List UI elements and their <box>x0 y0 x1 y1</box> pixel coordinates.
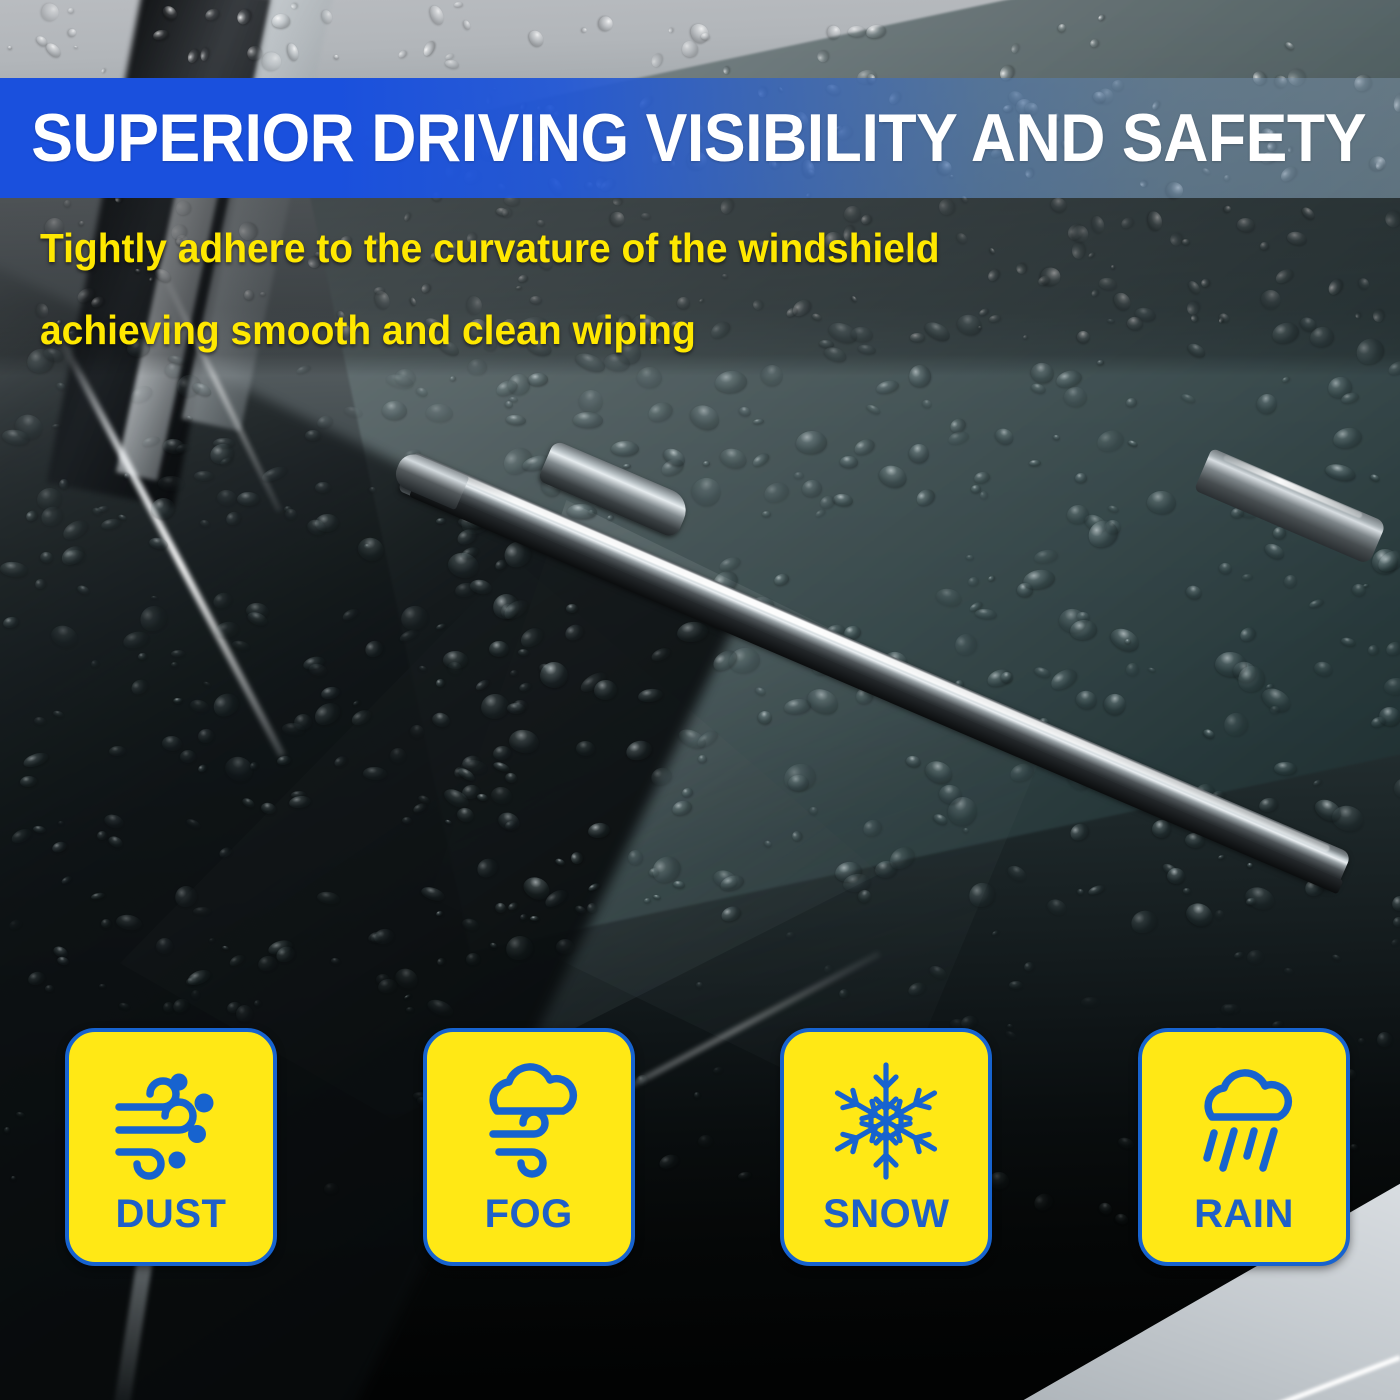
cloud-rain-icon <box>1173 1050 1315 1192</box>
badge-label-fog: FOG <box>485 1194 573 1234</box>
feature-badge-snow[interactable]: SNOW <box>780 1028 992 1266</box>
wind-dust-icon <box>100 1050 242 1192</box>
subtitle-line-1: Tightly adhere to the curvature of the w… <box>40 228 1104 269</box>
product-feature-poster: SUPERIOR DRIVING VISIBILITY AND SAFETY T… <box>0 0 1400 1400</box>
subtitle-line-2: achieving smooth and clean wiping <box>40 310 1104 351</box>
badge-label-snow: SNOW <box>823 1194 949 1234</box>
badge-label-rain: RAIN <box>1194 1194 1294 1234</box>
snowflake-icon <box>815 1050 957 1192</box>
cloud-fog-icon <box>458 1050 600 1192</box>
subtitle-block: Tightly adhere to the curvature of the w… <box>40 228 1160 351</box>
page-title: SUPERIOR DRIVING VISIBILITY AND SAFETY <box>0 104 1366 172</box>
header-banner: SUPERIOR DRIVING VISIBILITY AND SAFETY <box>0 78 1400 198</box>
feature-badge-rain[interactable]: RAIN <box>1138 1028 1350 1266</box>
feature-badge-fog[interactable]: FOG <box>423 1028 635 1266</box>
feature-badge-dust[interactable]: DUST <box>65 1028 277 1266</box>
badge-label-dust: DUST <box>116 1194 227 1234</box>
feature-badge-row: DUST FOG <box>65 1028 1350 1268</box>
